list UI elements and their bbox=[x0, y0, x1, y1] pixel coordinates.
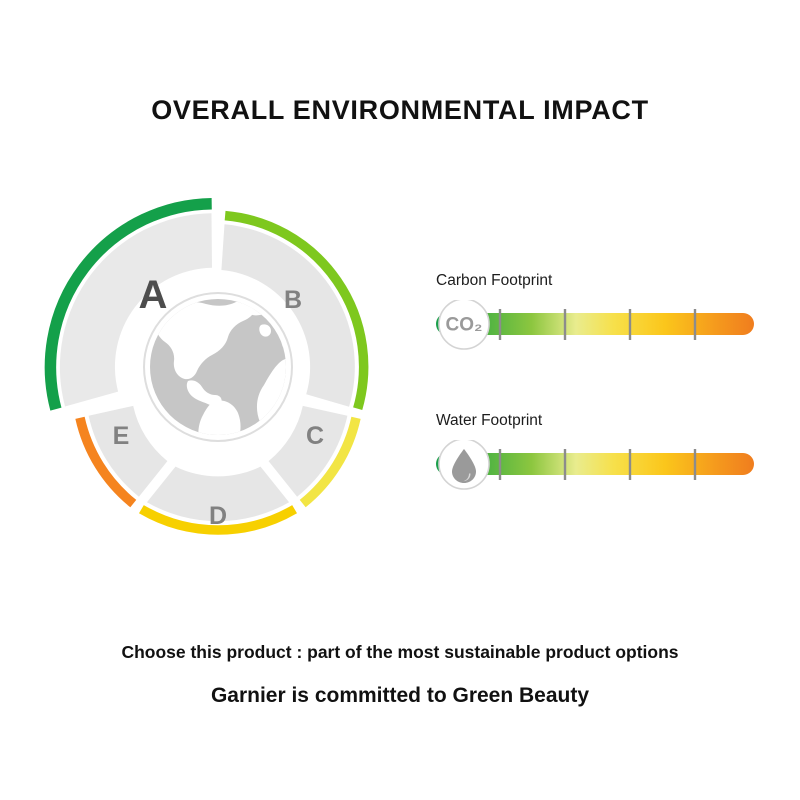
dial-segment-e-wedge bbox=[89, 406, 168, 497]
footer-primary-text: Choose this product : part of the most s… bbox=[0, 642, 800, 663]
dial-segment-d-letter: D bbox=[209, 502, 227, 530]
dial-segment-e-letter: E bbox=[113, 422, 130, 450]
gauge-water-footprint: Water Footprint bbox=[432, 412, 762, 487]
gauge-water-label: Water Footprint bbox=[436, 412, 542, 430]
gauge-water-bar[interactable] bbox=[432, 440, 762, 490]
dial-segment-e[interactable]: E bbox=[80, 406, 167, 504]
dial-segment-c[interactable]: C bbox=[269, 406, 356, 504]
dial-segment-c-letter: C bbox=[306, 422, 324, 450]
dial-segment-d[interactable]: D bbox=[141, 467, 294, 530]
dial-segment-a-letter: A bbox=[139, 273, 168, 317]
footer-secondary-text: Garnier is committed to Green Beauty bbox=[0, 684, 800, 708]
footprint-gauges: Carbon Footprint bbox=[432, 272, 762, 502]
dial-segment-c-wedge bbox=[269, 406, 348, 497]
grade-dial: E D C B bbox=[40, 185, 400, 555]
co2-icon: CO₂ bbox=[446, 315, 483, 336]
gauge-carbon-marker[interactable]: CO₂ bbox=[439, 300, 489, 349]
dial-segment-b-letter: B bbox=[284, 286, 302, 314]
gauge-carbon-label: Carbon Footprint bbox=[436, 272, 552, 290]
gauge-carbon-bar[interactable]: CO₂ bbox=[432, 300, 762, 350]
page-title: OVERALL ENVIRONMENTAL IMPACT bbox=[0, 95, 800, 126]
gauge-water-marker[interactable] bbox=[439, 440, 489, 489]
environmental-impact-infographic: OVERALL ENVIRONMENTAL IMPACT E D bbox=[0, 0, 800, 800]
grade-dial-svg: E D C B bbox=[40, 185, 400, 555]
gauge-carbon-footprint: Carbon Footprint bbox=[432, 272, 762, 347]
